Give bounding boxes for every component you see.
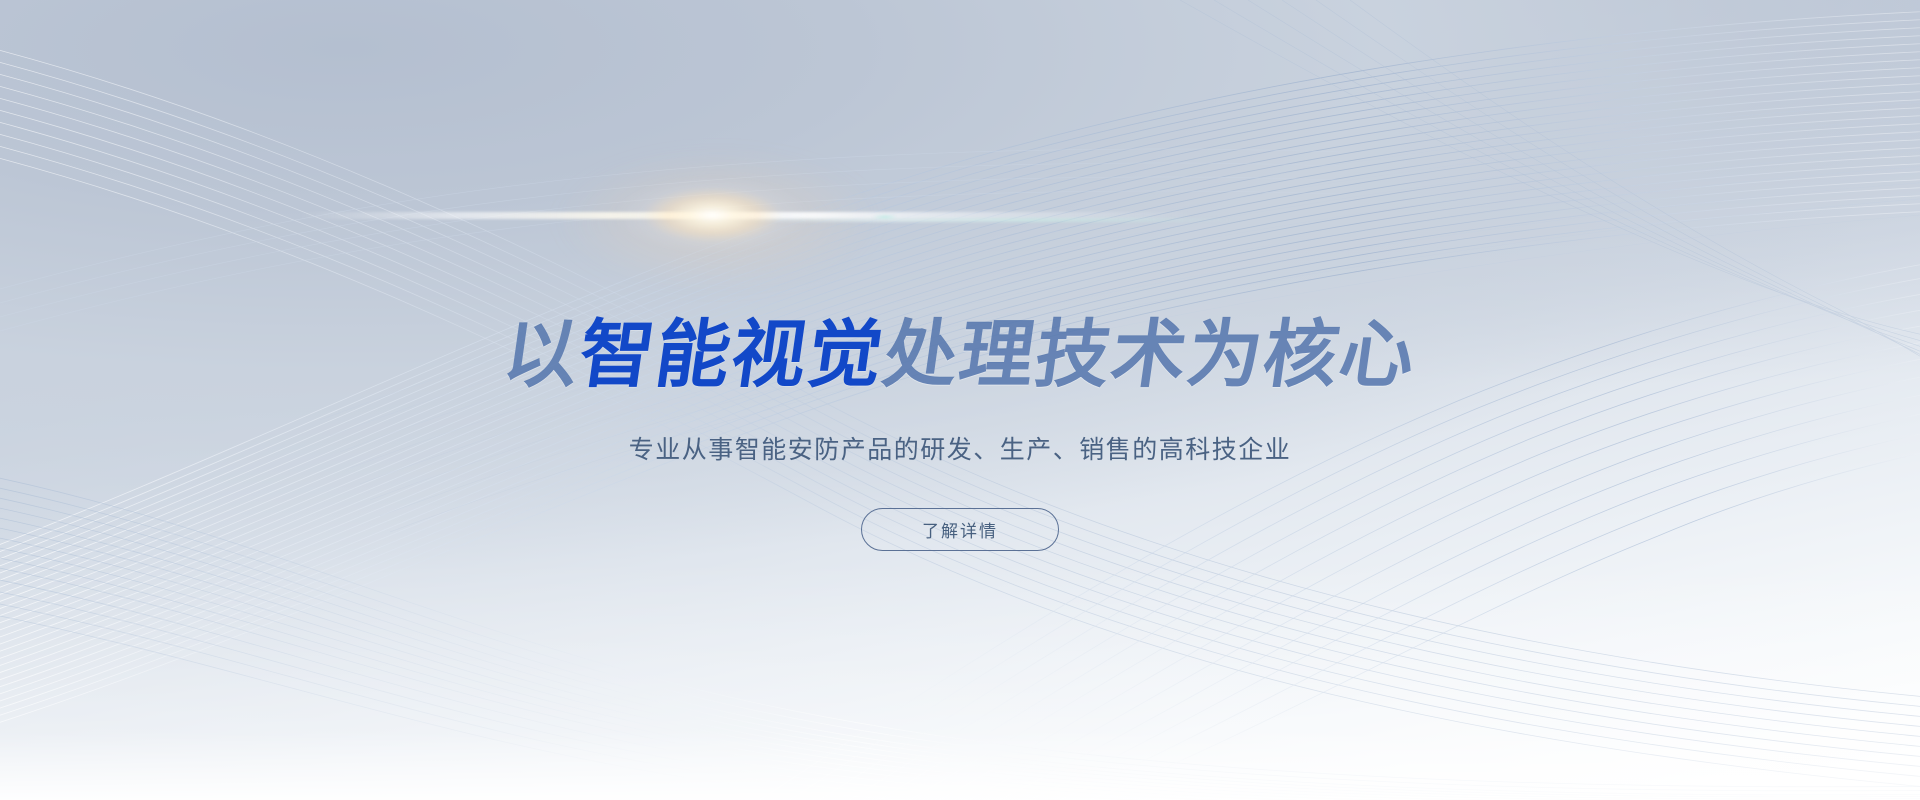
headline-segment-2: 智能视觉	[575, 318, 889, 392]
page-title: 以智能视觉处理技术为核心	[0, 318, 1920, 392]
page-subtitle: 专业从事智能安防产品的研发、生产、销售的高科技企业	[0, 433, 1920, 468]
hero-content: 以智能视觉处理技术为核心 专业从事智能安防产品的研发、生产、销售的高科技企业 了…	[0, 0, 1920, 800]
learn-more-button[interactable]: 了解详情	[861, 508, 1059, 551]
hero-banner: 以智能视觉处理技术为核心 专业从事智能安防产品的研发、生产、销售的高科技企业 了…	[0, 0, 1920, 800]
headline-segment-1: 以	[499, 318, 585, 392]
headline-segment-3: 处理技术为核心	[879, 318, 1421, 392]
cta-container: 了解详情	[0, 508, 1920, 551]
